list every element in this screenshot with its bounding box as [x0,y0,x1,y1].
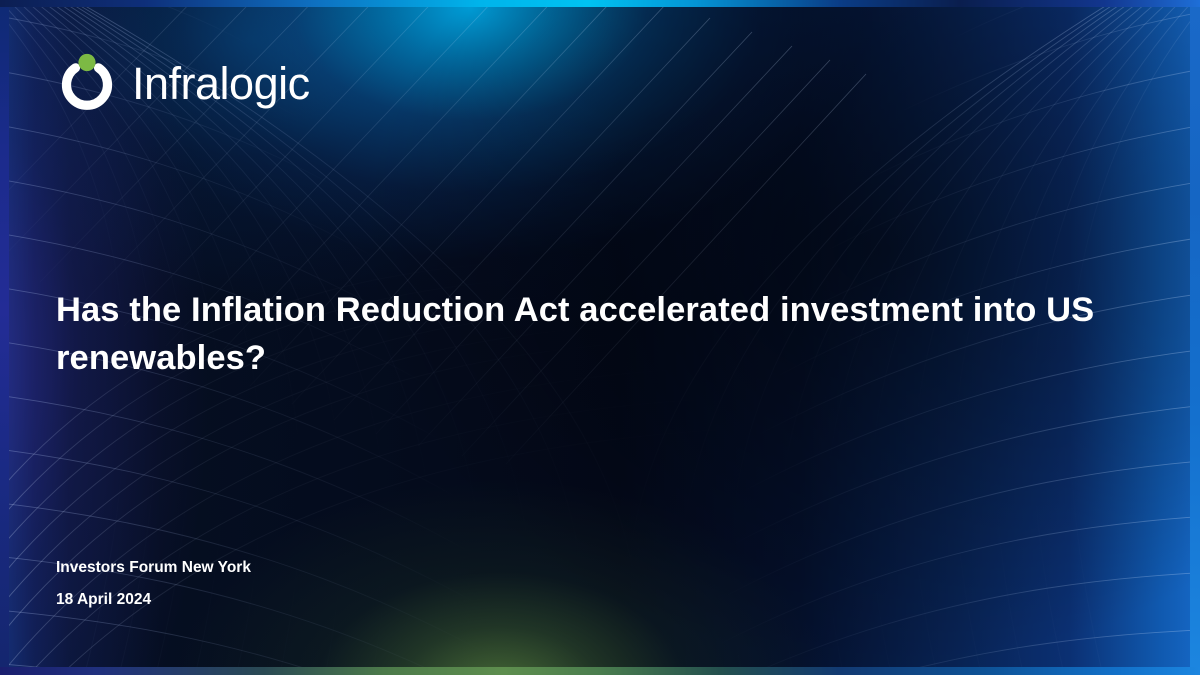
top-edge-strip [0,0,1200,7]
event-date: 18 April 2024 [56,592,251,608]
infralogic-logo[interactable]: Infralogic [56,52,310,114]
page-title: Has the Inflation Reduction Act accelera… [56,286,1116,382]
page-title-text: Has the Inflation Reduction Act accelera… [56,291,1094,377]
right-edge-strip [1190,0,1200,675]
slide-footer: Investors Forum New York 18 April 2024 [56,560,251,607]
left-edge-strip [0,0,9,675]
bottom-edge-strip [0,667,1200,675]
event-name: Investors Forum New York [56,560,251,576]
infralogic-ring-mark-icon [56,52,118,114]
logo-wordmark: Infralogic [132,61,310,106]
title-slide: Infralogic Has the Inflation Reduction A… [0,0,1200,675]
